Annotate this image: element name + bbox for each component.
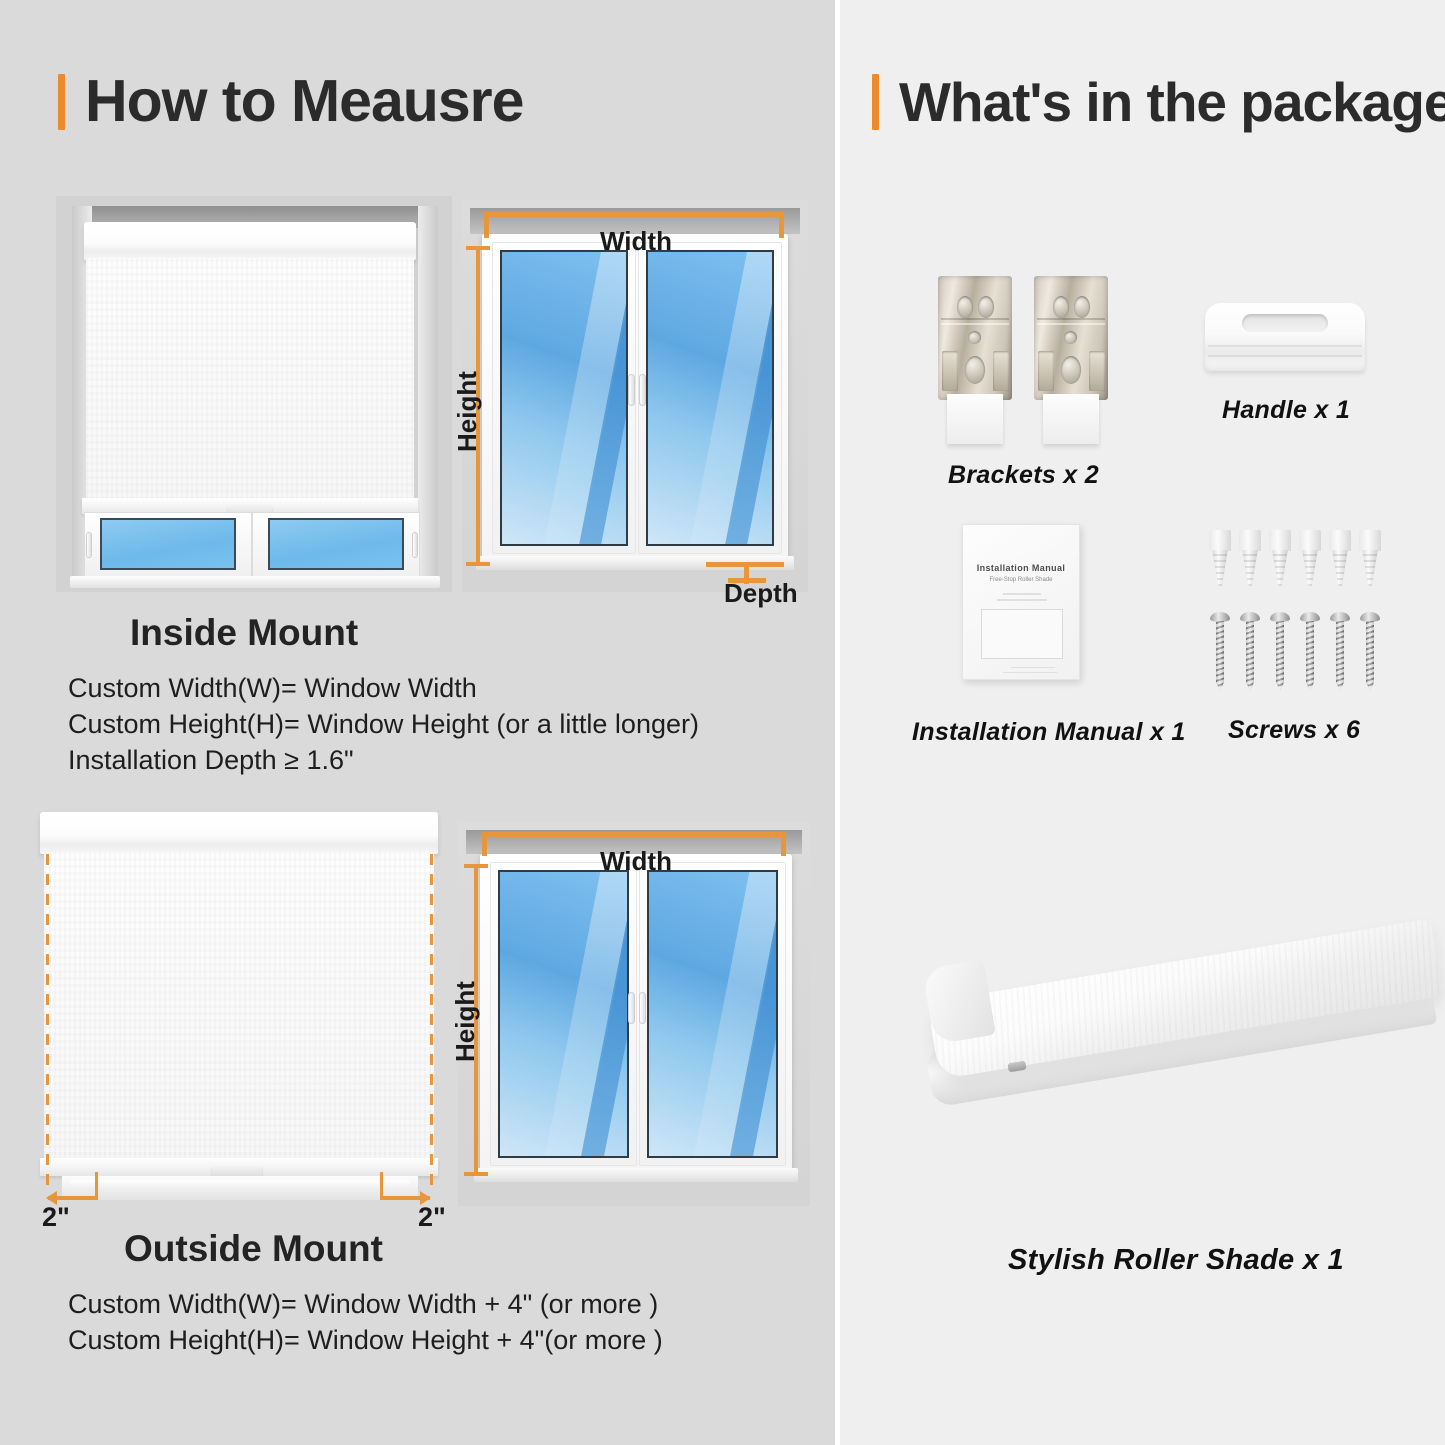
- manual-cover-subtitle: Free-Stop Roller Shade: [963, 577, 1079, 583]
- overhang-label-right: 2": [418, 1202, 446, 1233]
- dimension-label-height-outside: Height: [450, 981, 481, 1062]
- package-item-label-manual: Installation Manual x 1: [912, 718, 1186, 747]
- right-panel-heading: What's in the package: [872, 74, 1445, 130]
- overhang-label-left: 2": [42, 1202, 70, 1233]
- dimension-label-depth: Depth: [724, 578, 798, 609]
- package-item-label-roller-shade: Stylish Roller Shade x 1: [1008, 1244, 1344, 1277]
- inside-mount-title: Inside Mount: [130, 612, 358, 654]
- handle-icon: [1205, 303, 1365, 371]
- inside-mount-spec-depth: Installation Depth ≥ 1.6": [68, 742, 354, 778]
- dimension-label-height: Height: [452, 371, 483, 452]
- dimension-label-width-outside: Width: [600, 846, 672, 877]
- left-panel-heading: How to Meausre: [58, 72, 523, 131]
- inside-mount-spec-height: Custom Height(H)= Window Height (or a li…: [68, 706, 699, 742]
- accent-bar-icon: [58, 74, 65, 130]
- outside-mount-spec-height: Custom Height(H)= Window Height + 4"(or …: [68, 1322, 663, 1358]
- accent-bar-icon-right: [872, 74, 879, 130]
- roller-shade-icon: [900, 860, 1445, 1200]
- outside-mount-spec-width: Custom Width(W)= Window Width + 4" (or m…: [68, 1286, 658, 1322]
- infographic-page: How to Meausre: [0, 0, 1445, 1445]
- how-to-measure-title: How to Meausre: [85, 72, 523, 131]
- package-item-label-handle: Handle x 1: [1222, 396, 1350, 425]
- package-item-label-brackets: Brackets x 2: [948, 461, 1099, 490]
- manual-cover-title: Installation Manual: [963, 563, 1079, 573]
- package-item-label-screws: Screws x 6: [1228, 716, 1360, 745]
- whats-in-package-title: What's in the package: [899, 75, 1445, 130]
- inside-mount-spec-width: Custom Width(W)= Window Width: [68, 670, 477, 706]
- dimension-label-width: Width: [600, 226, 672, 257]
- installation-manual-icon: Installation Manual Free-Stop Roller Sha…: [962, 524, 1080, 680]
- outside-mount-title: Outside Mount: [124, 1228, 383, 1270]
